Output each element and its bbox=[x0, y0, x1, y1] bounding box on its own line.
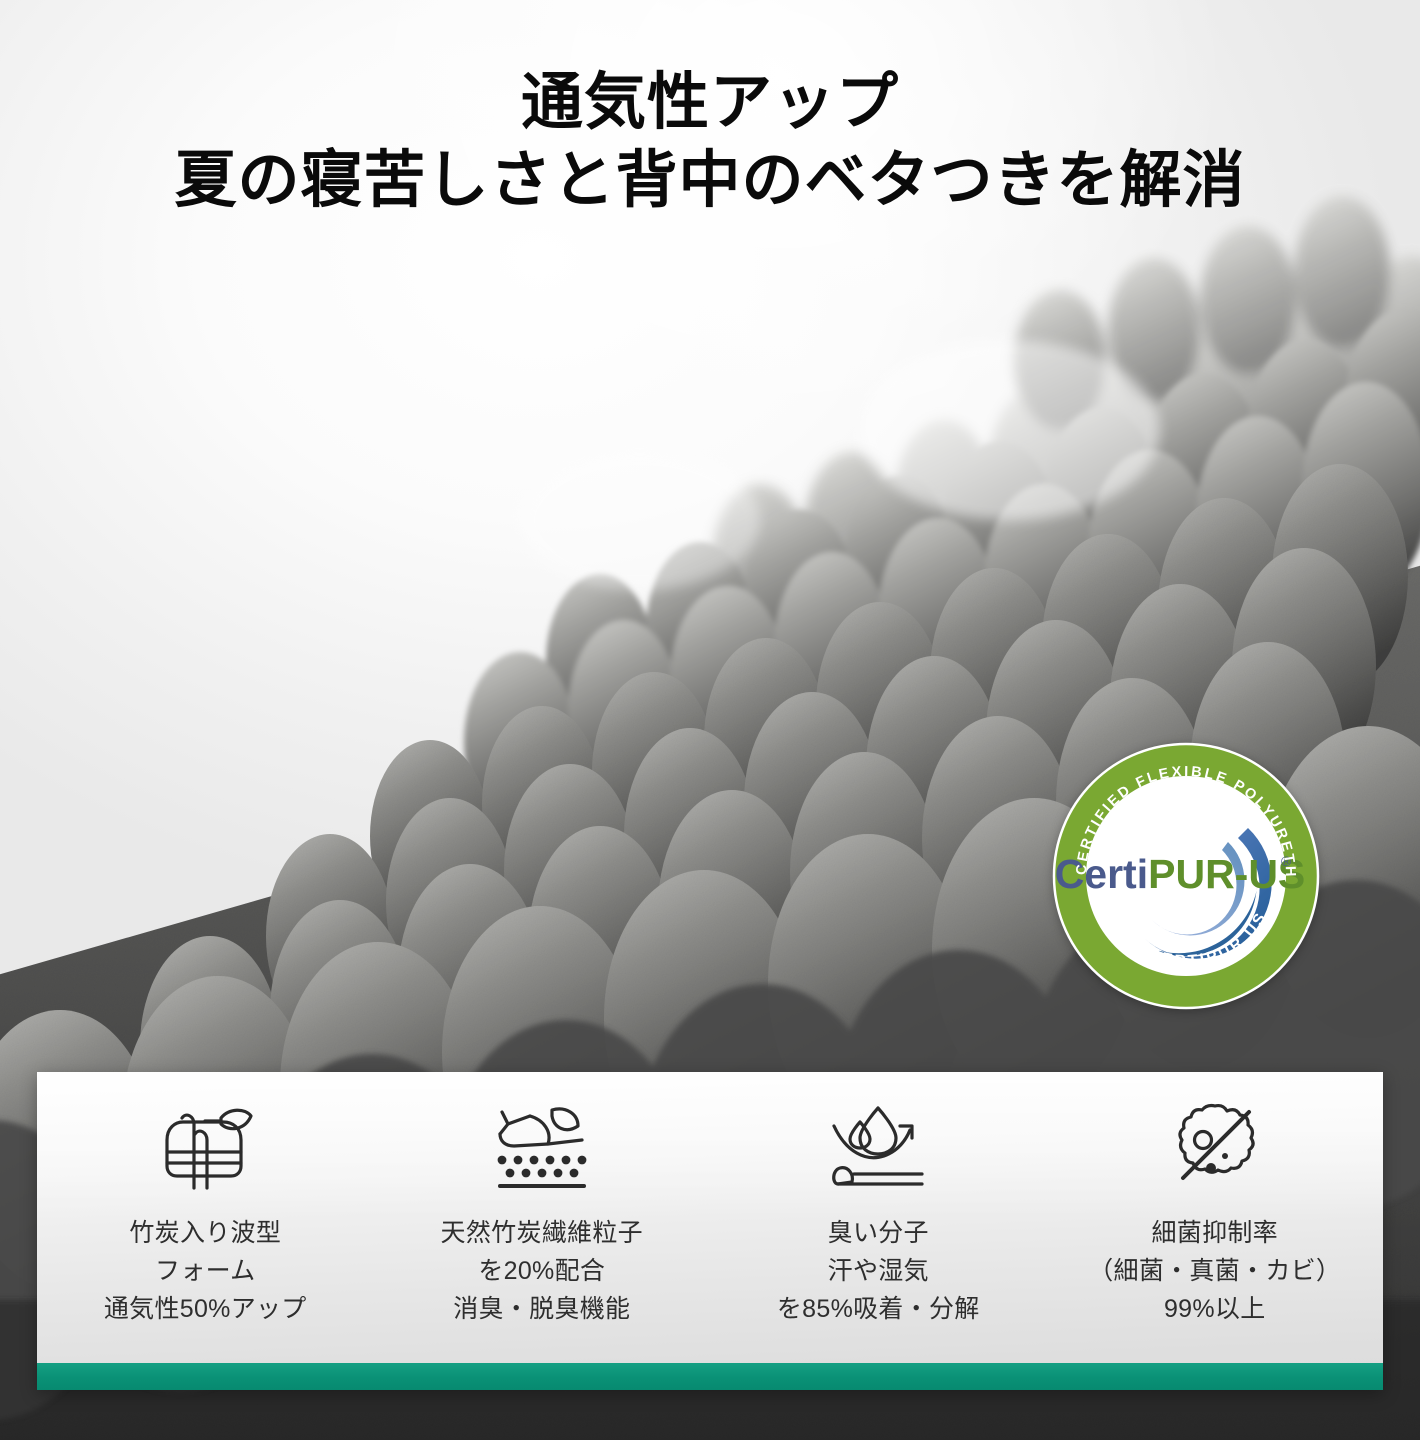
badge-wordmark-certi: Certi bbox=[1055, 851, 1148, 897]
product-feature-image: 通気性アップ 夏の寝苦しさと背中のベタつきを解消 bbox=[0, 0, 1420, 1440]
feature-caption-line: 汗や湿気 bbox=[777, 1252, 980, 1290]
headline-line-1: 通気性アップ bbox=[521, 68, 899, 137]
feature-caption-line: 細菌抑制率 bbox=[1088, 1214, 1341, 1252]
feature-caption-line: を85%吸着・分解 bbox=[777, 1290, 980, 1328]
badge-wordmark: CertiPUR-US bbox=[1055, 851, 1306, 897]
feature-caption-line: フォーム bbox=[104, 1252, 307, 1290]
feature-caption-line: 通気性50%アップ bbox=[104, 1290, 307, 1328]
panel-accent-bar bbox=[37, 1363, 1383, 1390]
feature-item: 細菌抑制率 （細菌・真菌・カビ） 99%以上 bbox=[1047, 1100, 1384, 1328]
headline-line-2: 夏の寝苦しさと背中のベタつきを解消 bbox=[0, 142, 1420, 220]
feature-caption: 細菌抑制率 （細菌・真菌・カビ） 99%以上 bbox=[1088, 1214, 1341, 1328]
certipur-badge-graphic: CertiPUR-US ® CONTAINS CERTIFIED FLEXIBL… bbox=[1052, 742, 1320, 1010]
feature-item: 天然竹炭繊維粒子 を20%配合 消臭・脱臭機能 bbox=[374, 1100, 711, 1328]
feature-caption-line: （細菌・真菌・カビ） bbox=[1088, 1252, 1341, 1290]
bamboo-charcoal-wave-foam-icon bbox=[149, 1100, 261, 1192]
feature-caption-line: 99%以上 bbox=[1088, 1290, 1341, 1328]
feature-item: 臭い分子 汗や湿気 を85%吸着・分解 bbox=[710, 1100, 1047, 1328]
feature-caption-line: 臭い分子 bbox=[777, 1214, 980, 1252]
feature-caption-line: 消臭・脱臭機能 bbox=[441, 1290, 643, 1328]
feature-caption: 竹炭入り波型 フォーム 通気性50%アップ bbox=[104, 1214, 307, 1328]
feature-caption-line: 竹炭入り波型 bbox=[104, 1214, 307, 1252]
feature-panel: 竹炭入り波型 フォーム 通気性50%アップ bbox=[37, 1072, 1383, 1390]
feature-caption-line: を20%配合 bbox=[441, 1252, 643, 1290]
feature-item: 竹炭入り波型 フォーム 通気性50%アップ bbox=[37, 1100, 374, 1328]
feature-caption-line: 天然竹炭繊維粒子 bbox=[441, 1214, 643, 1252]
bamboo-fiber-particles-icon bbox=[486, 1100, 598, 1192]
antibacterial-icon bbox=[1159, 1100, 1271, 1192]
page-title: 通気性アップ 夏の寝苦しさと背中のベタつきを解消 bbox=[0, 64, 1420, 220]
certipur-us-badge: CertiPUR-US ® CONTAINS CERTIFIED FLEXIBL… bbox=[1052, 742, 1320, 1010]
feature-list: 竹炭入り波型 フォーム 通気性50%アップ bbox=[37, 1072, 1383, 1363]
feature-caption: 天然竹炭繊維粒子 を20%配合 消臭・脱臭機能 bbox=[441, 1214, 643, 1328]
feature-caption: 臭い分子 汗や湿気 を85%吸着・分解 bbox=[777, 1214, 980, 1328]
moisture-wicking-icon bbox=[822, 1100, 934, 1192]
